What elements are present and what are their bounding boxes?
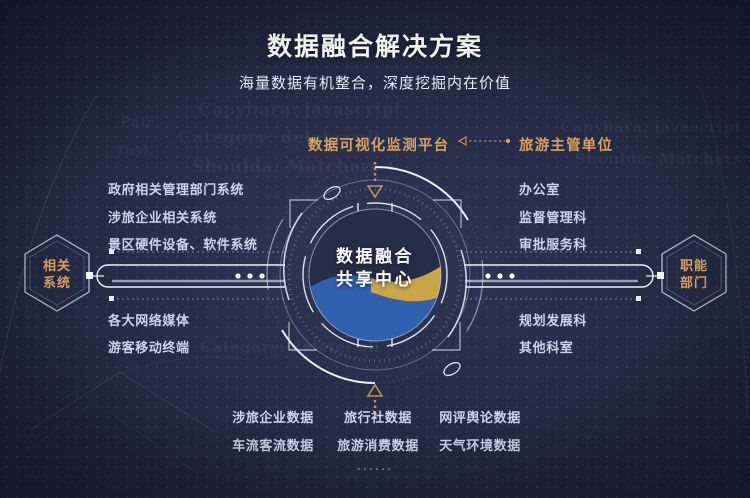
infographic-canvas: Capybara: javascript Category: delete: a…: [0, 0, 750, 498]
left-hexagon-label: 相关 系统: [25, 258, 89, 292]
left-source-item-4: 各大网络媒体: [108, 310, 190, 329]
right-hexagon-line1: 职能: [662, 258, 726, 275]
right-hexagon-line2: 部门: [662, 275, 726, 292]
bottom-data-item-r2c1: 车流客流数据: [226, 435, 320, 454]
bottom-data-item-r2c3: 天气环境数据: [433, 435, 527, 454]
bottom-data-item-r1c1: 涉旅企业数据: [226, 407, 320, 426]
left-hexagon-line2: 系统: [25, 275, 89, 292]
left-source-item-5: 游客移动终端: [108, 337, 190, 356]
right-department-item-3: 审批服务科: [519, 234, 587, 253]
left-source-item-1: 政府相关管理部门系统: [108, 179, 244, 198]
right-hexagon-label: 职能 部门: [662, 258, 726, 292]
left-source-item-2: 涉旅企业相关系统: [108, 207, 217, 226]
hub-label-line1: 数据融合: [306, 246, 444, 269]
left-source-item-3: 景区硬件设备、软件系统: [108, 234, 258, 253]
hub-label-line2: 共享中心: [306, 269, 444, 292]
right-department-item-1: 办公室: [519, 179, 560, 198]
bottom-data-item-r1c3: 网评舆论数据: [433, 407, 527, 426]
hub-label: 数据融合 共享中心: [306, 246, 444, 292]
right-department-item-4: 规划发展科: [519, 310, 587, 329]
right-department-item-2: 监督管理科: [519, 207, 587, 226]
bottom-data-item-r1c2: 旅行社数据: [331, 407, 425, 426]
right-department-item-5: 其他科室: [519, 337, 573, 356]
left-hexagon-line1: 相关: [25, 258, 89, 275]
bottom-data-item-r2c2: 旅游消费数据: [331, 435, 425, 454]
bottom-data-ellipsis: ......: [0, 459, 750, 474]
